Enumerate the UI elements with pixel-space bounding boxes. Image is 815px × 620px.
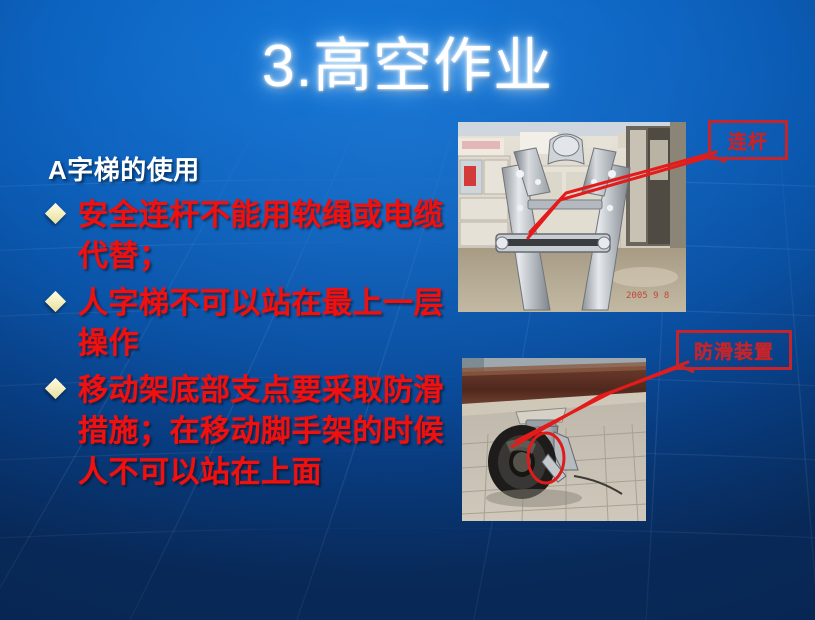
slide-canvas: 3.高空作业 A字梯的使用 安全连杆不能用软绳或电缆代替； 人字梯不可以站在最上… (0, 0, 815, 620)
list-item-text: 安全连杆不能用软绳或电缆代替； (78, 196, 444, 278)
photo-stepladder: 2005 9 8 (458, 122, 686, 312)
list-item-text: 人字梯不可以站在最上一层操作 (78, 284, 444, 366)
diamond-bullet-icon (45, 378, 66, 399)
annotation-label-text: 连杆 (728, 127, 768, 154)
list-item: 人字梯不可以站在最上一层操作 (44, 284, 444, 366)
list-item: 移动架底部支点要采取防滑措施；在移动脚手架的时候人不可以站在上面 (44, 371, 444, 493)
photo-caster-wheel (462, 358, 646, 521)
diamond-bullet-icon (45, 203, 66, 224)
annotation-label-connecting-rod: 连杆 (708, 120, 788, 160)
list-item: 安全连杆不能用软绳或电缆代替； (44, 196, 444, 278)
slide-title: 3.高空作业 (0, 36, 815, 98)
annotation-label-text: 防滑装置 (694, 337, 774, 364)
diamond-bullet-icon (45, 290, 66, 311)
svg-text:2005 9 8: 2005 9 8 (626, 291, 669, 301)
annotation-label-antislip-device: 防滑装置 (676, 330, 792, 370)
bullet-list: 安全连杆不能用软绳或电缆代替； 人字梯不可以站在最上一层操作 移动架底部支点要采… (44, 196, 444, 500)
list-item-text: 移动架底部支点要采取防滑措施；在移动脚手架的时候人不可以站在上面 (78, 371, 444, 493)
section-subheading: A字梯的使用 (48, 150, 200, 187)
